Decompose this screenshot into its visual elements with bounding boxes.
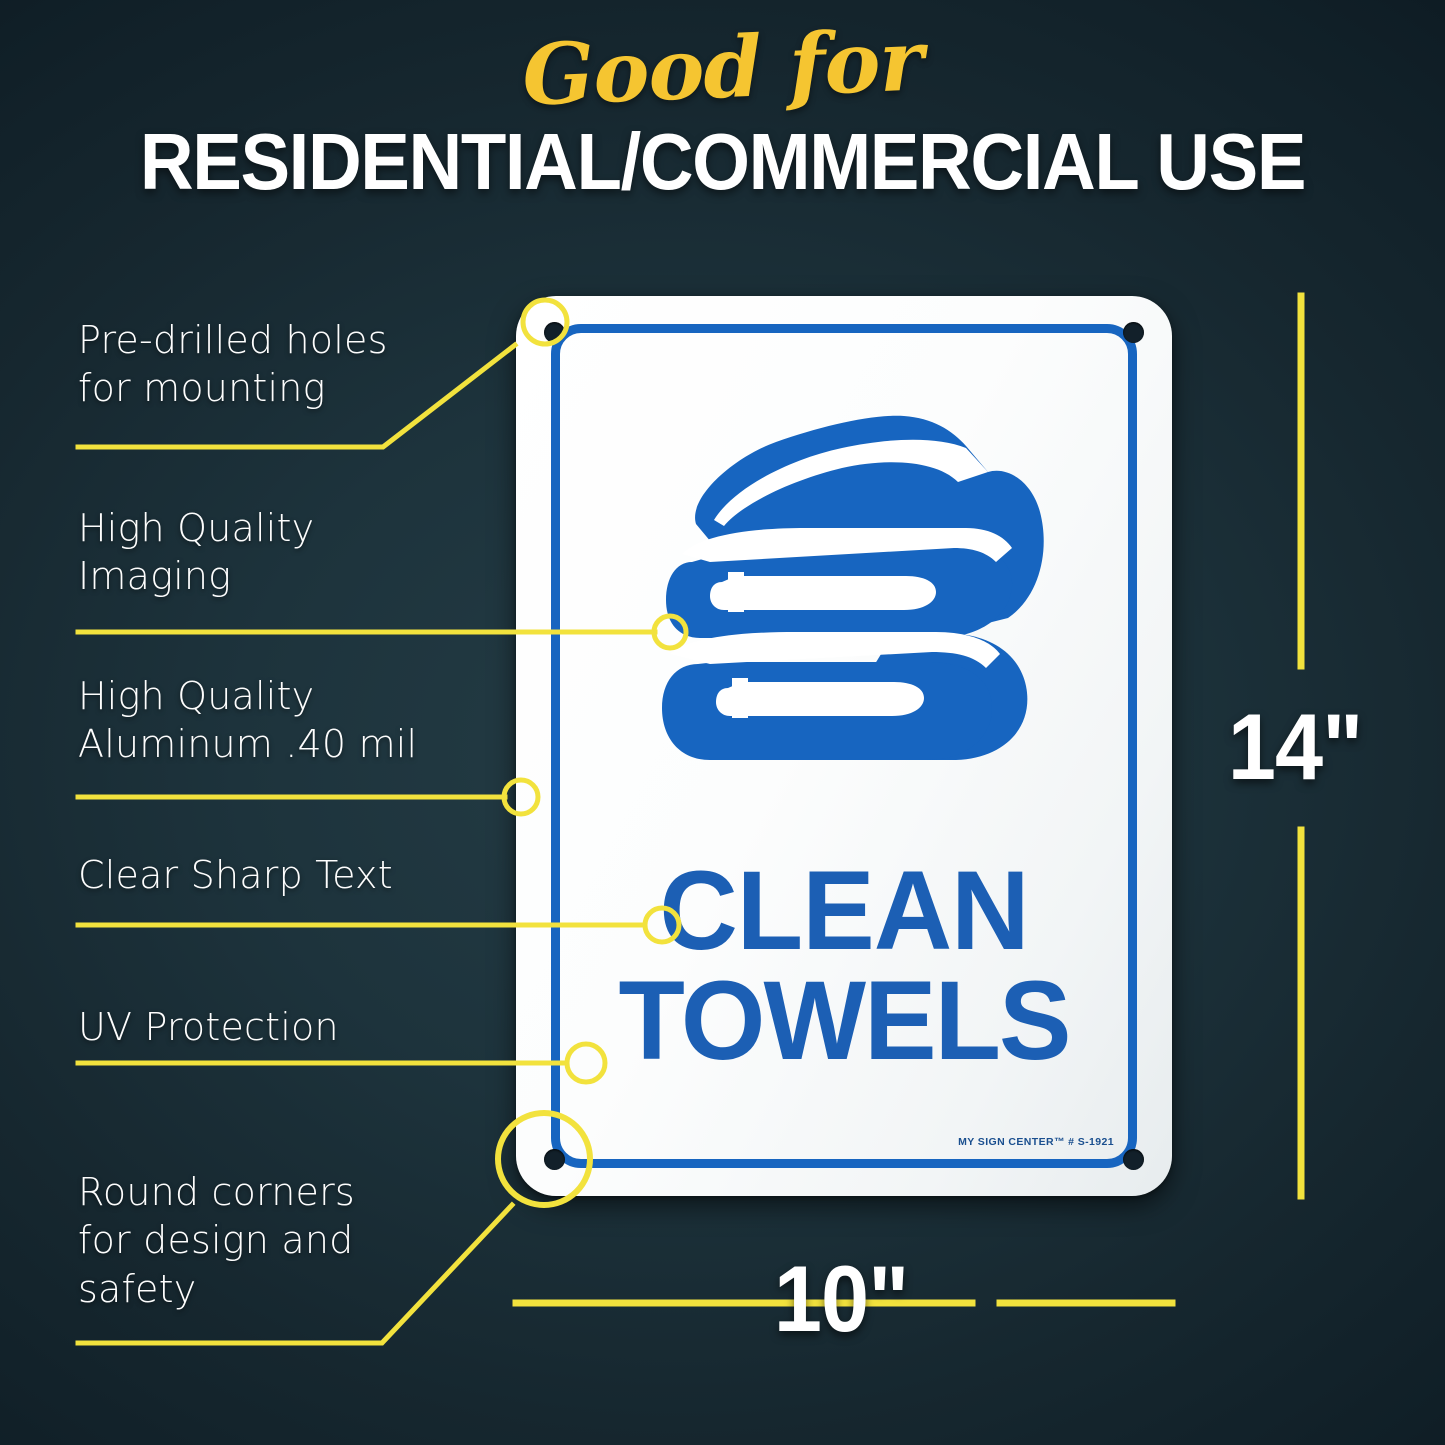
mounting-hole-bottom-right [1123,1149,1144,1170]
feature-label-high-quality-imaging: High Quality Imaging [78,504,314,601]
dimension-label-height: 14" [1228,700,1362,794]
mounting-hole-top-left [544,322,565,343]
sign-headline-line1: CLEAN [659,848,1028,973]
feature-label-round-corners: Round corners for design and safety [78,1168,355,1313]
folded-towels-icon [636,386,1056,776]
feature-label-pre-drilled-holes: Pre-drilled holes for mounting [78,316,388,413]
feature-label-aluminum-thickness: High Quality Aluminum .40 mil [78,672,417,769]
sign-headline-line2: TOWELS [526,966,1162,1076]
product-infographic: Good for RESIDENTIAL/COMMERCIAL USE [0,0,1445,1445]
feature-label-uv-protection: UV Protection [78,1003,339,1051]
feature-label-clear-sharp-text: Clear Sharp Text [78,851,393,899]
sign-brand-mark: MY SIGN CENTER™ # S-1921 [958,1136,1114,1148]
sign-headline: CLEAN TOWELS [526,856,1162,1076]
mounting-hole-bottom-left [544,1149,565,1170]
dimension-label-width: 10" [774,1252,908,1346]
header-main-title: RESIDENTIAL/COMMERCIAL USE [51,122,1395,202]
aluminum-sign: CLEAN TOWELS MY SIGN CENTER™ # S-1921 [516,296,1172,1196]
mounting-hole-top-right [1123,322,1144,343]
